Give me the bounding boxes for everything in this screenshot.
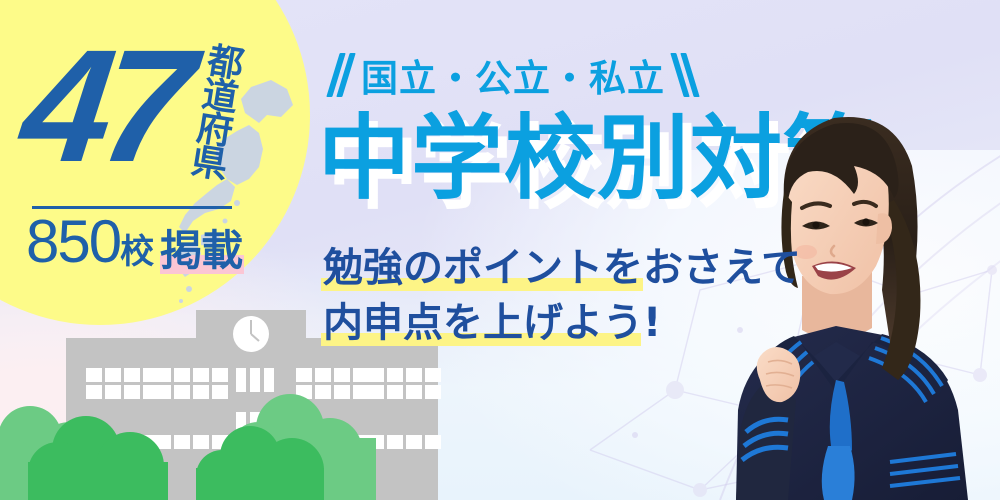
subtitle-line-1: 勉強のポイントをおさえて: [323, 248, 801, 288]
badge-listed-wrap: 掲載: [160, 230, 242, 272]
badge-number: 47: [16, 38, 191, 174]
kicker-row: 国立・公立・私立: [333, 48, 693, 102]
badge-subline: 850 校 掲載: [26, 212, 242, 272]
badge-schools-unit: 校: [120, 235, 153, 272]
double-slash-left-icon: [333, 53, 349, 97]
banner-root: 47 都道府県 850 校 掲載 国立・公立・私立 中学校別対策 勉強のポイント…: [0, 0, 1000, 500]
kicker-text: 国立・公立・私立: [361, 48, 665, 102]
subtitle-text-2: 内申点を上げよう!: [323, 300, 661, 346]
badge-schools-count: 850: [26, 212, 120, 272]
badge-listed-label: 掲載: [160, 226, 242, 275]
subtitle-line-2: 内申点を上げよう!: [323, 303, 661, 343]
subtitle-text-1: 勉強のポイントをおさえて: [323, 245, 801, 291]
